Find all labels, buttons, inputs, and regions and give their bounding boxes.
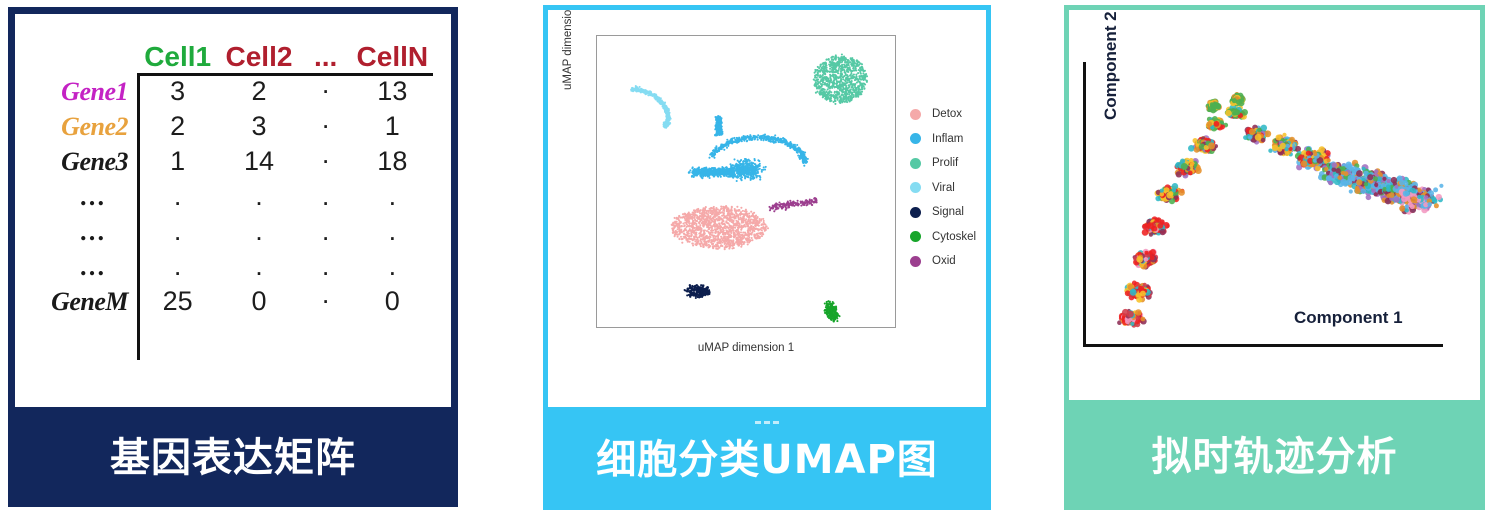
cell-value: 2 <box>218 76 299 107</box>
row-label-ellipsis: … <box>33 217 137 247</box>
legend-swatch-inflam <box>910 133 921 144</box>
legend-label: Inflam <box>932 133 963 145</box>
expression-matrix: Cell1 Cell2 ... CellN Gene1 3 2 . 13 <box>33 40 433 319</box>
three-panel-figure-board: Cell1 Cell2 ... CellN Gene1 3 2 . 13 <box>0 0 1493 515</box>
cell-value: . <box>137 223 218 239</box>
matrix-figure: Cell1 Cell2 ... CellN Gene1 3 2 . 13 <box>15 14 451 412</box>
row-label-gene3: Gene3 <box>33 147 137 177</box>
cell-value: . <box>300 258 352 274</box>
umap-x-axis-label: uMAP dimension 1 <box>596 342 896 354</box>
row-label-gene1: Gene1 <box>33 77 137 107</box>
matrix-top-rule <box>137 73 433 76</box>
cell-value: . <box>300 146 352 177</box>
table-row: Gene1 3 2 . 13 <box>33 74 433 109</box>
table-row: … . . . . <box>33 249 433 284</box>
cell-value: 3 <box>218 111 299 142</box>
column-header-cell1: Cell1 <box>137 41 218 73</box>
panel-caption-text: 细胞分类UMAP图 <box>596 427 938 485</box>
legend-swatch-cytoskel <box>910 231 921 242</box>
cell-value: 18 <box>352 146 433 177</box>
cell-value: . <box>218 188 299 204</box>
cell-value: 0 <box>352 286 433 317</box>
umap-plot-area <box>596 35 896 328</box>
legend-item: Cytoskel <box>910 225 976 250</box>
row-label-gene2: Gene2 <box>33 112 137 142</box>
legend-label: Oxid <box>932 255 956 267</box>
legend-swatch-detox <box>910 109 921 120</box>
cell-value: . <box>218 258 299 274</box>
legend-item: Prolif <box>910 151 976 176</box>
legend-item: Signal <box>910 200 976 225</box>
legend-swatch-signal <box>910 207 921 218</box>
matrix-left-rule <box>137 74 140 360</box>
cell-value: . <box>137 188 218 204</box>
umap-y-axis-label: uMAP dimension 2 <box>562 10 574 90</box>
cell-value: 1 <box>352 111 433 142</box>
cell-value: . <box>352 223 433 239</box>
legend-label: Cytoskel <box>932 231 976 243</box>
panel-caption-pseudotime-trajectory: 拟时轨迹分析 <box>1069 400 1480 505</box>
cell-value: 25 <box>137 286 218 317</box>
cell-value: 1 <box>137 146 218 177</box>
umap-legend: Detox Inflam Prolif Viral <box>910 102 976 274</box>
panel-cell-classification-umap: uMAP dimension 2 uMAP dimension 1 Detox … <box>543 5 991 510</box>
cell-value: . <box>352 258 433 274</box>
cell-value: . <box>352 188 433 204</box>
panel-caption-gene-expression-matrix: 基因表达矩阵 <box>15 407 451 500</box>
cell-value: . <box>300 223 352 239</box>
legend-label: Detox <box>932 108 962 120</box>
column-header-celln: CellN <box>352 41 433 73</box>
row-label-ellipsis: … <box>33 252 137 282</box>
cell-value: 14 <box>218 146 299 177</box>
cell-value: . <box>300 111 352 142</box>
legend-swatch-prolif <box>910 158 921 169</box>
trajectory-figure: Component 2 Component 1 <box>1069 10 1480 405</box>
panel-caption-text: 基因表达矩阵 <box>110 425 356 483</box>
cell-value: . <box>218 223 299 239</box>
table-row: GeneM 25 0 . 0 <box>33 284 433 319</box>
cell-value: 0 <box>218 286 299 317</box>
legend-swatch-oxid <box>910 256 921 267</box>
legend-item: Oxid <box>910 249 976 274</box>
umap-scatter <box>597 36 894 326</box>
umap-figure: uMAP dimension 2 uMAP dimension 1 Detox … <box>548 10 986 410</box>
cell-value: 13 <box>352 76 433 107</box>
legend-label: Viral <box>932 182 955 194</box>
matrix-header-row: Cell1 Cell2 ... CellN <box>33 40 433 74</box>
cell-value: 2 <box>137 111 218 142</box>
column-header-cell2: Cell2 <box>218 41 299 73</box>
panel-caption-cell-classification-umap: 细胞分类UMAP图 <box>548 407 986 505</box>
panel-gene-expression-matrix: Cell1 Cell2 ... CellN Gene1 3 2 . 13 <box>8 7 458 507</box>
table-row: … . . . . <box>33 214 433 249</box>
cell-value: 3 <box>137 76 218 107</box>
panel-pseudotime-trajectory: Component 2 Component 1 拟时轨迹分析 <box>1064 5 1485 510</box>
legend-item: Detox <box>910 102 976 127</box>
cell-value: . <box>300 76 352 107</box>
table-row: Gene2 2 3 . 1 <box>33 109 433 144</box>
trajectory-scatter <box>1069 10 1480 405</box>
legend-item: Viral <box>910 176 976 201</box>
cell-value: . <box>137 258 218 274</box>
legend-label: Signal <box>932 206 964 218</box>
legend-label: Prolif <box>932 157 958 169</box>
table-row: … . . . . <box>33 179 433 214</box>
row-label-ellipsis: … <box>33 182 137 212</box>
cell-value: . <box>300 188 352 204</box>
caption-dash-artifact <box>755 421 779 424</box>
row-label-genem: GeneM <box>33 287 137 317</box>
cell-value: . <box>300 286 352 317</box>
table-row: Gene3 1 14 . 18 <box>33 144 433 179</box>
legend-swatch-viral <box>910 182 921 193</box>
panel-caption-text: 拟时轨迹分析 <box>1152 424 1398 482</box>
legend-item: Inflam <box>910 127 976 152</box>
